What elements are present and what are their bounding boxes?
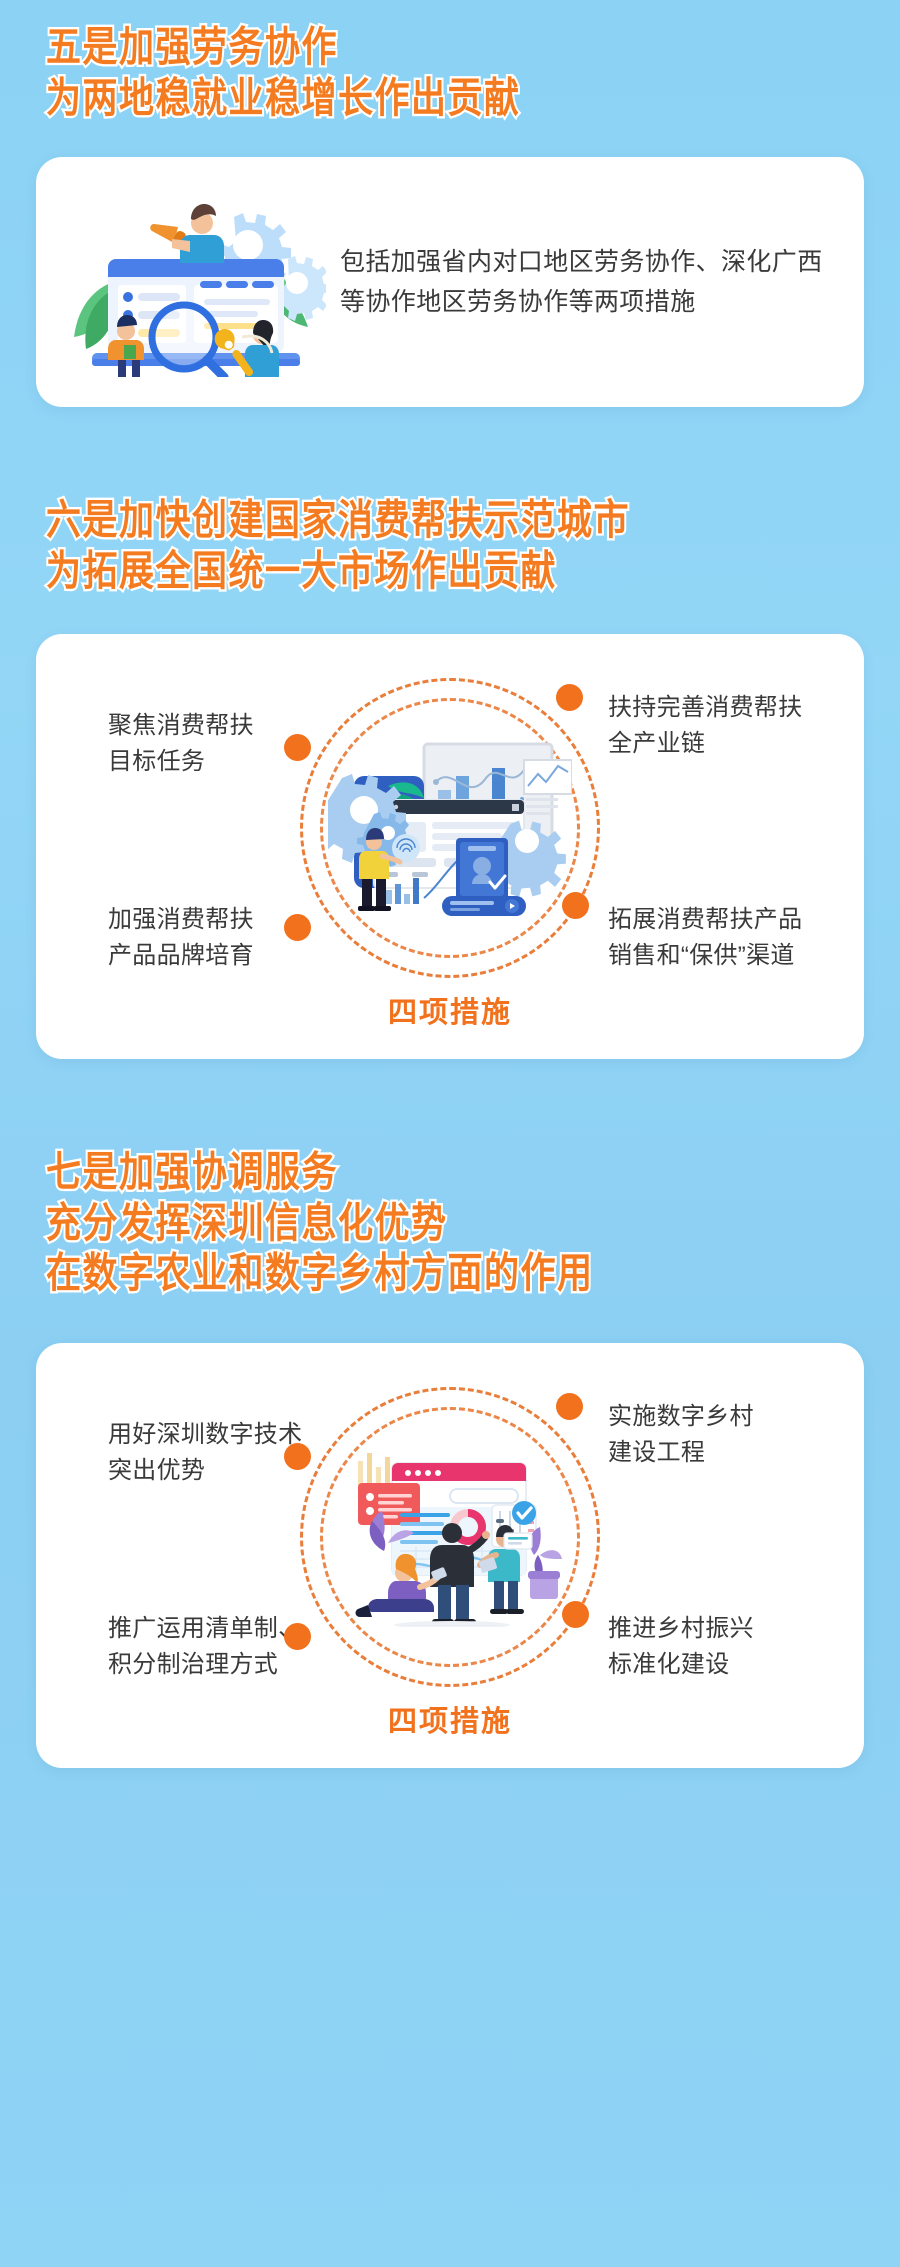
megaphone-dashboard-search-icon [56, 187, 326, 377]
orbit-node-bottom-right [562, 892, 589, 919]
orbit-label-top-right: 扶持完善消费帮扶 全产业链 [608, 690, 802, 763]
section-heading-seven: 七是加强协调服务 充分发挥深圳信息化优势 在数字农业和数字乡村方面的作用 [0, 1147, 900, 1294]
orbit-node-bottom-left [284, 914, 311, 941]
orbit-label-bottom-right: 推进乡村振兴 标准化建设 [608, 1611, 754, 1684]
orbit-diagram [300, 678, 600, 978]
orbit-label-top-left: 聚焦消费帮扶 目标任务 [108, 708, 254, 781]
orbit-diagram [300, 1387, 600, 1687]
team-analytics-dashboard-icon [328, 1447, 572, 1627]
heading-line: 充分发挥深圳信息化优势 [46, 1198, 870, 1252]
orbit-label-bottom-left: 加强消费帮扶 产品品牌培育 [108, 902, 254, 975]
orbit-label-bottom-right: 拓展消费帮扶产品 销售和“保供”渠道 [608, 902, 802, 975]
orbit-label-top-left: 用好深圳数字技术 突出优势 [108, 1417, 302, 1490]
heading-line: 六是加快创建国家消费帮扶示范城市 [46, 495, 870, 549]
data-dashboard-gears-icon [328, 738, 572, 918]
orbit-node-top-left [284, 1443, 311, 1470]
section-heading-five: 五是加强劳务协作 为两地稳就业稳增长作出贡献 [0, 22, 900, 118]
heading-line: 在数字农业和数字乡村方面的作用 [46, 1248, 870, 1302]
heading-line: 七是加强协调服务 [46, 1147, 870, 1201]
heading-line: 五是加强劳务协作 [46, 22, 870, 76]
card-section-five: 包括加强省内对口地区劳务协作、深化广西等协作地区劳务协作等两项措施 [36, 157, 864, 407]
orbit-label-bottom-left: 推广运用清单制、 积分制治理方式 [108, 1611, 302, 1684]
orbit-node-top-left [284, 734, 311, 761]
section-heading-six: 六是加快创建国家消费帮扶示范城市 为拓展全国统一大市场作出贡献 [0, 495, 900, 591]
orbit-caption: 四项措施 [36, 989, 864, 1031]
card-paragraph: 包括加强省内对口地区劳务协作、深化广西等协作地区劳务协作等两项措施 [326, 242, 854, 323]
orbit-node-top-right [556, 684, 583, 711]
infographic-page: 五是加强劳务协作 为两地稳就业稳增长作出贡献 [0, 0, 900, 2267]
heading-line: 为两地稳就业稳增长作出贡献 [46, 73, 870, 127]
orbit-node-top-right [556, 1393, 583, 1420]
orbit-node-bottom-right [562, 1601, 589, 1628]
heading-line: 为拓展全国统一大市场作出贡献 [46, 546, 870, 600]
card-section-six: 聚焦消费帮扶 目标任务 扶持完善消费帮扶 全产业链 加强消费帮扶 产品品牌培育 … [36, 634, 864, 1059]
orbit-caption: 四项措施 [36, 1698, 864, 1740]
orbit-label-top-right: 实施数字乡村 建设工程 [608, 1399, 754, 1472]
orbit-node-bottom-left [284, 1623, 311, 1650]
card-section-seven: 用好深圳数字技术 突出优势 实施数字乡村 建设工程 推广运用清单制、 积分制治理… [36, 1343, 864, 1768]
